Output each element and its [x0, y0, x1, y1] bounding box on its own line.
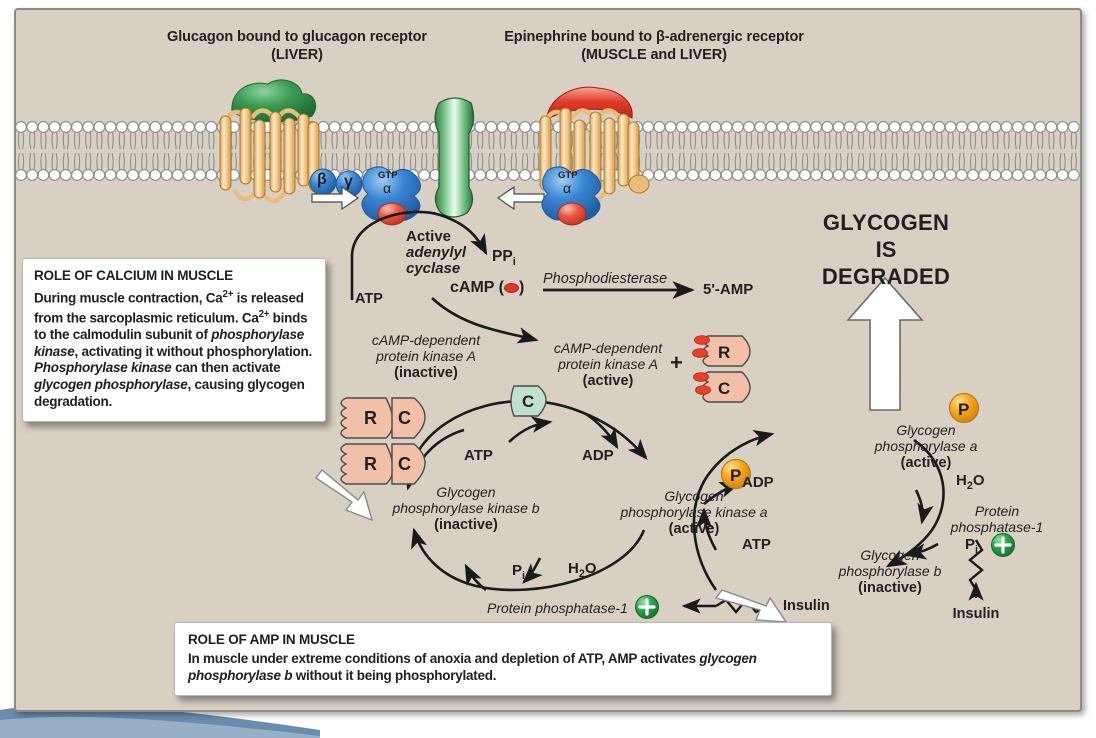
protein-phosphatase-1-cycle2-line1: Protein	[975, 503, 1019, 519]
pi-label-cycle1: Pi	[512, 562, 525, 582]
calcium-callout-body: During muscle contraction, Ca2+ is relea…	[34, 287, 314, 410]
atp-label-cycle1: ATP	[464, 447, 493, 464]
pka-r2c2-tetramer: R R C C	[334, 392, 464, 496]
glycogen-degraded-arrow	[848, 278, 922, 410]
callout-role-of-calcium: ROLE OF CALCIUM IN MUSCLE During muscle …	[22, 258, 326, 422]
pka-r2-dimer-with-camp: R C	[692, 332, 772, 412]
pka-active-state: (active)	[583, 373, 634, 389]
kinase-a-line1: Glycogen	[664, 488, 723, 504]
kinase-a-state: (active)	[669, 521, 720, 537]
phosphate-badge-phosphorylase-a: P	[947, 391, 981, 425]
figure-canvas: Glucagon bound to glucagon receptor (LIV…	[0, 0, 1096, 738]
svg-text:C: C	[718, 379, 730, 398]
pi-label-cycle2: Pi	[965, 536, 978, 556]
callout-role-of-amp: ROLE OF AMP IN MUSCLE In muscle under ex…	[174, 622, 832, 696]
pka-inactive-state: (inactive)	[394, 365, 458, 381]
svg-text:C: C	[398, 454, 411, 474]
phosphorylase-b-line2: phosphorylase b	[839, 563, 942, 579]
adp-label-cycle1: ADP	[582, 447, 614, 464]
kinase-a-line2: phosphorylase kinase a	[620, 504, 767, 520]
atp-label-cycle2: ATP	[742, 536, 771, 553]
adp-label-cycle2: ADP	[742, 474, 774, 491]
h2o-label-cycle1: H2O	[568, 560, 597, 580]
h2o-label-cycle2: H2O	[956, 472, 985, 492]
kinase-b-line2: phosphorylase kinase b	[392, 500, 539, 516]
svg-text:R: R	[364, 454, 377, 474]
amp-callout-heading: ROLE OF AMP IN MUSCLE	[188, 632, 818, 647]
protein-phosphatase-1-cycle1: Protein phosphatase-1	[487, 600, 628, 616]
phosphorylase-a-state: (active)	[901, 455, 952, 471]
amp-callout-body: In muscle under extreme conditions of an…	[188, 651, 818, 684]
outcome-line3: DEGRADED	[822, 264, 950, 290]
pka-plus-sign: +	[670, 350, 683, 376]
activator-badge-insulin-cycle2	[990, 532, 1016, 558]
amp-callout-pointer	[716, 590, 786, 622]
svg-text:C: C	[522, 392, 534, 411]
pka-active-line1: cAMP-dependent	[554, 340, 662, 356]
pka-c-subunit-free: C	[508, 380, 556, 422]
pka-inactive-line2: protein kinase A	[376, 348, 476, 364]
insulin-label-cycle1: Insulin	[783, 598, 830, 614]
phosphorylase-b-line1: Glycogen	[860, 547, 919, 563]
outcome-line1: GLYCOGEN	[823, 210, 949, 236]
svg-text:R: R	[364, 408, 377, 428]
outcome-line2: IS	[876, 237, 897, 263]
svg-text:C: C	[398, 408, 411, 428]
kinase-b-state: (inactive)	[434, 517, 498, 533]
calcium-callout-heading: ROLE OF CALCIUM IN MUSCLE	[34, 268, 314, 283]
svg-text:P: P	[958, 400, 969, 419]
kinase-b-line1: Glycogen	[436, 484, 495, 500]
diagram-panel: Glucagon bound to glucagon receptor (LIV…	[14, 8, 1082, 712]
phosphorylase-a-line2: phosphorylase a	[875, 438, 978, 454]
phosphorylase-b-state: (inactive)	[858, 580, 922, 596]
svg-text:P: P	[730, 466, 741, 485]
svg-text:R: R	[718, 343, 730, 362]
pka-inactive-line1: cAMP-dependent	[372, 332, 480, 348]
pka-active-line2: protein kinase A	[558, 356, 658, 372]
insulin-label-cycle2: Insulin	[953, 606, 1000, 622]
activator-badge-insulin-cycle1	[634, 594, 660, 620]
